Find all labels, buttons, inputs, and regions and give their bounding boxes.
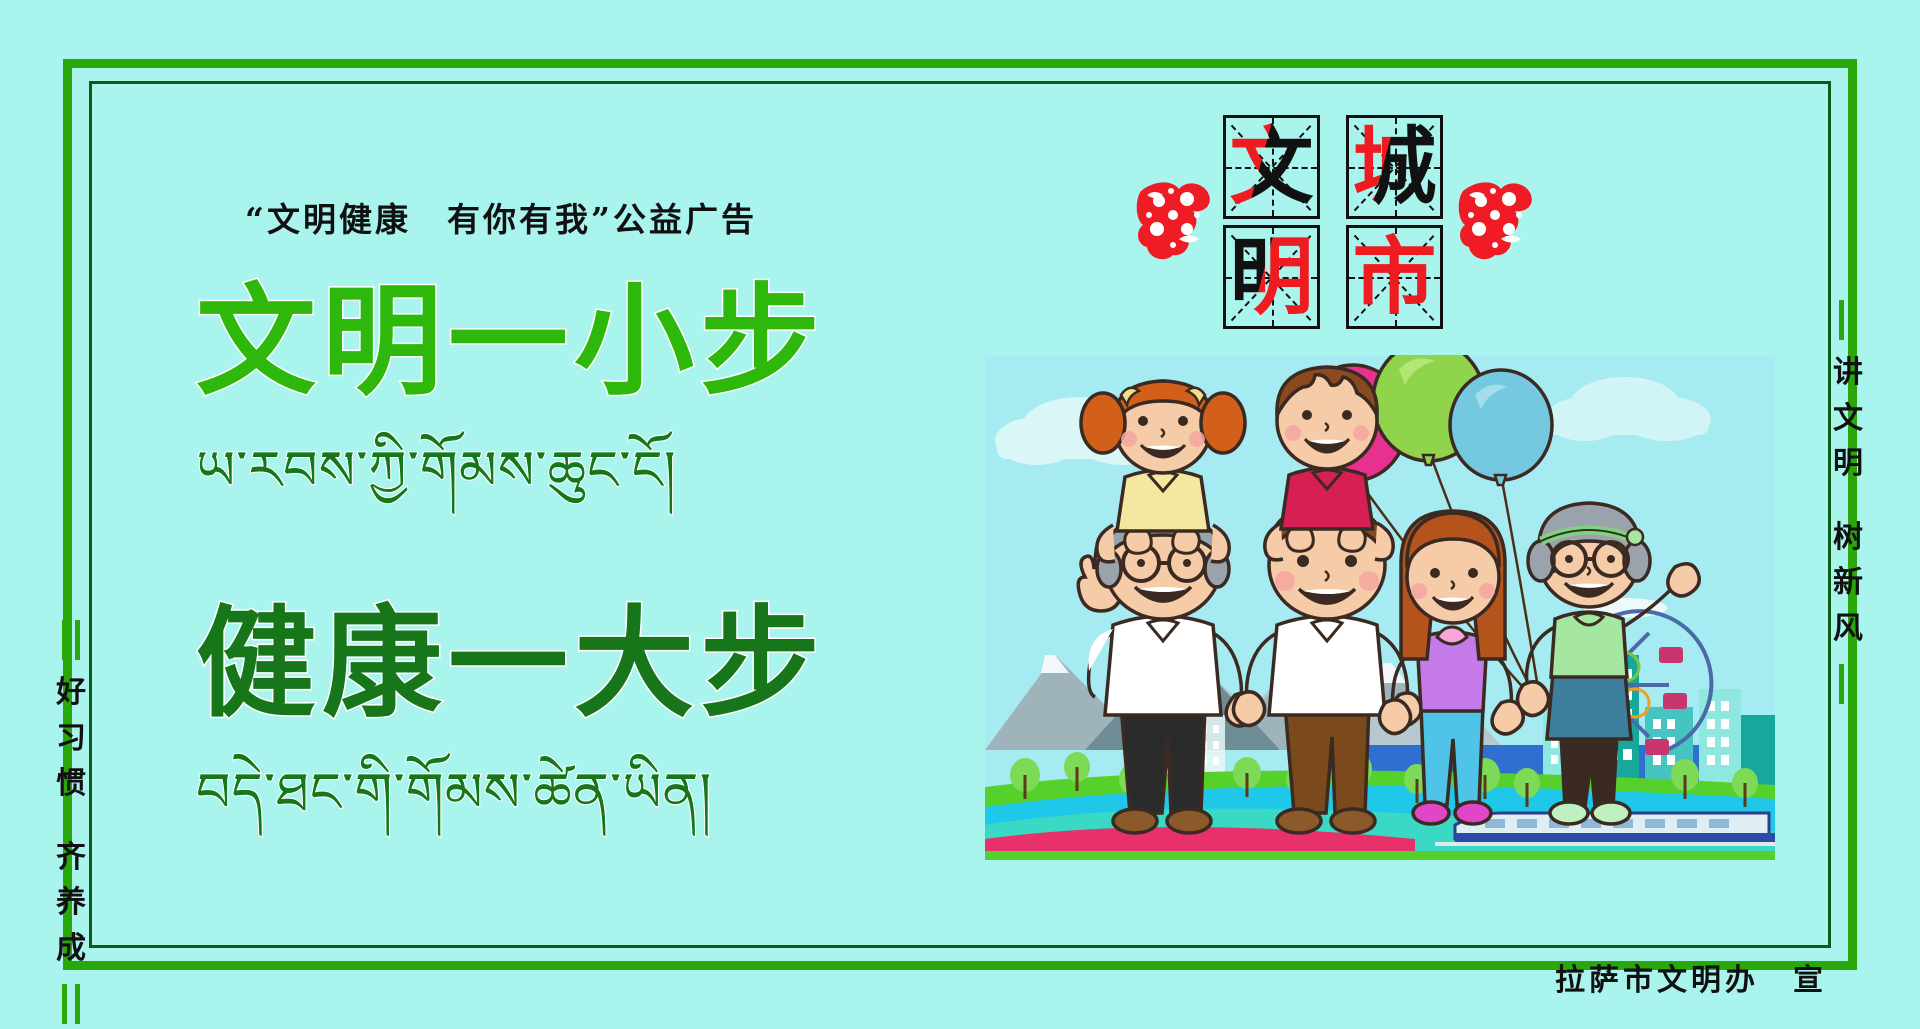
family-illustration	[985, 355, 1775, 860]
slogan-block: 文明一小步 ཡ་རབས་ཀྱི་གོམས་ཆུང་ངོ། 健康一大步 བདེ་ཐ…	[196, 280, 936, 884]
slogan-line1-tibetan: ཡ་རབས་ཀྱི་གོམས་ཆུང་ངོ།	[196, 410, 936, 562]
vside-right-char-1: 文	[1822, 396, 1874, 442]
slogan-line1-chinese: 文明一小步	[196, 280, 936, 406]
grid-cell-shi: 市	[1346, 225, 1443, 329]
character-grid: 文 明 城 市	[1223, 115, 1443, 329]
grid-cell-ming: 明	[1223, 225, 1320, 329]
vertical-slogan-left: 好 习 惯 齐 养 成	[45, 620, 97, 1024]
vside-left-separator	[45, 807, 97, 835]
vside-right-separator	[1822, 487, 1874, 515]
grid-cell-cheng: 城	[1346, 115, 1443, 219]
vside-left-char-2: 惯	[45, 761, 97, 807]
vertical-rule-bottom-right	[1839, 664, 1857, 704]
issuing-authority-signature: 拉萨市文明办 宣	[1555, 955, 1827, 999]
vertical-rule-top-left	[62, 620, 80, 660]
vside-right-char-4: 新	[1822, 560, 1874, 606]
civilized-city-seal: 文 明 城 市	[1135, 115, 1535, 330]
vside-right-char-0: 讲	[1822, 350, 1874, 396]
seal-char-shi: 市	[1349, 228, 1440, 326]
character-grid-column-right: 城 市	[1346, 115, 1443, 329]
vertical-slogan-right: 讲 文 明 树 新 风	[1822, 300, 1874, 704]
vertical-rule-top-right	[1839, 300, 1857, 340]
vside-left-char-0: 好	[45, 670, 97, 716]
vertical-rule-bottom-left	[62, 984, 80, 1024]
vside-left-char-5: 成	[45, 926, 97, 972]
headline-campaign-title: “文明健康 有你有我”公益广告	[245, 193, 757, 241]
seal-char-cheng: 城	[1349, 118, 1440, 216]
character-grid-column-left: 文 明	[1223, 115, 1320, 329]
seal-char-wen: 文	[1226, 118, 1317, 216]
vside-left-char-1: 习	[45, 716, 97, 762]
slogan-line2-tibetan: བདེ་ཐང་གི་གོམས་ཚེན་ཡིན།	[196, 732, 936, 884]
grass-bottom	[985, 851, 1775, 860]
seal-char-ming: 明	[1226, 228, 1317, 326]
slogan-line2-chinese: 健康一大步	[196, 602, 936, 728]
fish-papercut-icon-right	[1457, 177, 1535, 263]
vside-right-char-2: 明	[1822, 441, 1874, 487]
grid-cell-wen: 文	[1223, 115, 1320, 219]
vside-left-char-3: 齐	[45, 835, 97, 881]
vside-right-char-3: 树	[1822, 515, 1874, 561]
vside-right-char-5: 风	[1822, 606, 1874, 652]
vside-left-char-4: 养	[45, 880, 97, 926]
fish-papercut-icon-left	[1135, 177, 1213, 263]
